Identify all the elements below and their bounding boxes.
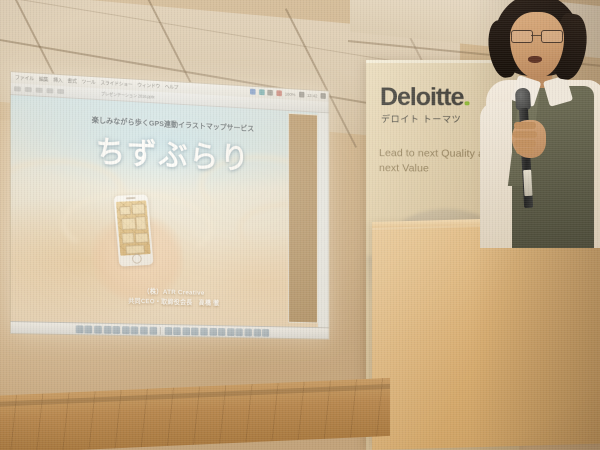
volume-icon[interactable] bbox=[268, 90, 273, 96]
phone-in-hand-photo bbox=[108, 194, 161, 287]
toolbar-button[interactable] bbox=[46, 88, 53, 93]
presentation-scene: ファイル 編集 挿入 書式 ツール スライドショー ウィンドウ ヘルプ 100%… bbox=[0, 0, 600, 450]
toolbar-button[interactable] bbox=[25, 87, 32, 92]
map-block bbox=[121, 218, 136, 231]
menu-item-format[interactable]: 書式 bbox=[67, 77, 76, 84]
map-block bbox=[135, 233, 149, 244]
map-block bbox=[135, 216, 147, 230]
presenter-person bbox=[474, 0, 600, 264]
dock-icon[interactable] bbox=[140, 327, 148, 335]
smartphone-device bbox=[113, 194, 153, 266]
projection-screen: ファイル 編集 挿入 書式 ツール スライドショー ウィンドウ ヘルプ 100%… bbox=[10, 71, 329, 340]
dock-icon[interactable] bbox=[94, 326, 102, 334]
dock-icon[interactable] bbox=[262, 329, 269, 337]
wifi-icon[interactable] bbox=[250, 89, 255, 95]
menu-bar-clock[interactable]: 13:42 bbox=[307, 93, 317, 98]
dock-icon[interactable] bbox=[103, 326, 111, 334]
menu-item-edit[interactable]: 編集 bbox=[39, 75, 48, 83]
finger bbox=[513, 131, 537, 138]
phone-speaker bbox=[126, 197, 136, 199]
document-title: プレゼンテーション 2016.pptx bbox=[101, 91, 155, 100]
toolbar-button[interactable] bbox=[14, 86, 21, 91]
toolbar-button[interactable] bbox=[36, 88, 43, 93]
toolbar-button[interactable] bbox=[57, 89, 64, 94]
dock-icon[interactable] bbox=[182, 327, 189, 335]
map-block bbox=[131, 203, 145, 214]
menu-item-help[interactable]: ヘルプ bbox=[165, 83, 179, 91]
glasses-lens-right bbox=[541, 30, 563, 43]
dock-icon[interactable] bbox=[164, 327, 172, 335]
dock-icon[interactable] bbox=[236, 328, 243, 336]
dock-icon[interactable] bbox=[253, 329, 260, 337]
dock-icon[interactable] bbox=[149, 327, 157, 335]
finger bbox=[516, 148, 534, 154]
spotlight-icon[interactable] bbox=[321, 93, 326, 99]
dock-icon[interactable] bbox=[245, 329, 252, 337]
presenter-hand bbox=[512, 120, 546, 158]
desktop-background-strip bbox=[318, 112, 330, 328]
menu-item-insert[interactable]: 挿入 bbox=[53, 76, 62, 84]
dock-icon[interactable] bbox=[173, 327, 181, 335]
dock-icon[interactable] bbox=[209, 328, 216, 336]
microphone-band bbox=[523, 170, 532, 196]
menu-bar-battery-percent: 100% bbox=[285, 91, 296, 96]
presenter-notes-panel[interactable] bbox=[288, 113, 318, 323]
finger bbox=[514, 122, 536, 129]
slide-canvas: 楽しみながら歩くGPS連動イラストマップサービス ちずぶらり bbox=[10, 94, 329, 328]
menu-item-slideshow[interactable]: スライドショー bbox=[100, 79, 132, 88]
menu-item-tools[interactable]: ツール bbox=[82, 78, 96, 86]
dock-icon[interactable] bbox=[113, 326, 121, 334]
map-block bbox=[122, 232, 135, 243]
dock-icon[interactable] bbox=[85, 325, 93, 333]
battery-icon[interactable] bbox=[276, 90, 281, 96]
phone-home-button bbox=[131, 253, 141, 263]
bluetooth-icon[interactable] bbox=[259, 89, 264, 95]
dock-icon[interactable] bbox=[200, 328, 207, 336]
glasses-lens-left bbox=[511, 30, 533, 43]
finger bbox=[514, 140, 536, 147]
phone-screen-map bbox=[116, 200, 151, 255]
glasses-bridge bbox=[531, 35, 541, 36]
menu-item-window[interactable]: ウィンドウ bbox=[137, 81, 160, 89]
map-block bbox=[119, 206, 131, 215]
dock-icon[interactable] bbox=[191, 328, 198, 336]
glasses-icon bbox=[511, 30, 563, 41]
dock-icon[interactable] bbox=[122, 326, 130, 334]
dock-separator bbox=[160, 327, 161, 335]
dock-icon[interactable] bbox=[76, 325, 84, 333]
input-source-icon[interactable] bbox=[299, 92, 304, 98]
dock-icon[interactable] bbox=[218, 328, 225, 336]
dock-icon[interactable] bbox=[131, 326, 139, 334]
menu-item-file[interactable]: ファイル bbox=[15, 74, 34, 82]
presenter-mouth bbox=[528, 56, 542, 63]
dock-icon[interactable] bbox=[227, 328, 234, 336]
